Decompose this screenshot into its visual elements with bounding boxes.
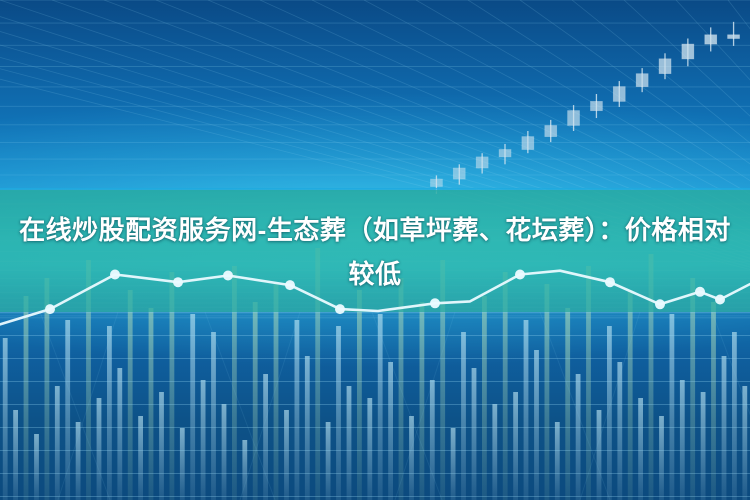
page-title: 在线炒股配资服务网-生态葬（如草坪葬、花坛葬）：价格相对较低: [0, 208, 750, 296]
banner-image: 在线炒股配资服务网-生态葬（如草坪葬、花坛葬）：价格相对较低: [0, 0, 750, 500]
